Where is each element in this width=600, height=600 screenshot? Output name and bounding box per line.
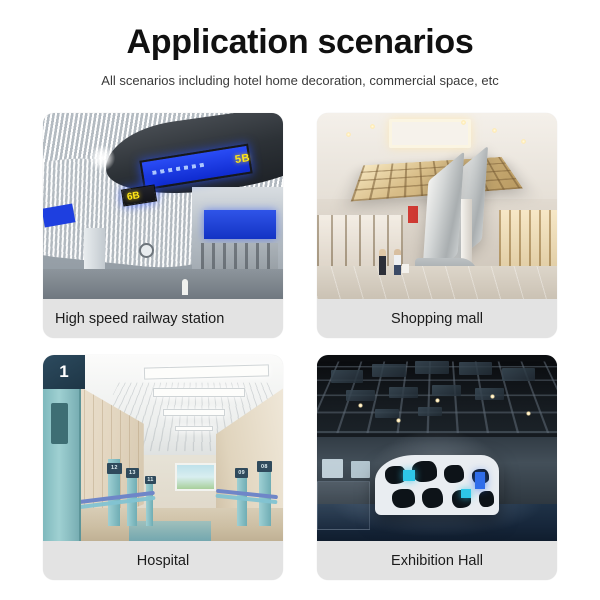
ceiling-tile bbox=[418, 407, 442, 416]
page-subtitle: All scenarios including hotel home decor… bbox=[0, 73, 600, 89]
ward-door bbox=[43, 385, 81, 541]
card-caption-shopping-mall: Shopping mall bbox=[317, 299, 557, 338]
room-sign-11: 11 bbox=[145, 476, 156, 484]
lattice-opening bbox=[392, 489, 414, 508]
page-header: Application scenarios All scenarios incl… bbox=[0, 0, 600, 89]
mall-floor bbox=[317, 266, 557, 299]
display-screen-left bbox=[322, 459, 344, 478]
door-pillar bbox=[127, 470, 137, 526]
display-screen-left-two bbox=[351, 461, 370, 478]
platform-number-5b: 5B bbox=[234, 152, 251, 166]
downlight-icon bbox=[346, 132, 351, 137]
shopper-figure-one bbox=[379, 249, 386, 275]
ceiling-tile bbox=[372, 364, 406, 377]
ceiling-tile bbox=[459, 362, 493, 375]
exhibition-hall-photo bbox=[317, 355, 557, 541]
door-pillar bbox=[146, 482, 153, 527]
ceiling-tile bbox=[502, 368, 536, 381]
lattice-opening bbox=[479, 491, 494, 506]
scenario-card-grid: 5B 6B High speed railway station bbox=[43, 113, 557, 580]
ceiling-tile bbox=[389, 387, 418, 398]
red-banner-sign bbox=[408, 206, 418, 223]
scenario-card-high-speed-railway-station[interactable]: 5B 6B High speed railway station bbox=[43, 113, 283, 338]
platform-number-6b: 6B bbox=[126, 190, 140, 203]
ceiling-tile bbox=[375, 409, 399, 418]
card-caption-railway-station: High speed railway station bbox=[43, 299, 283, 338]
shopping-bag bbox=[402, 264, 409, 273]
ceiling-tile bbox=[432, 385, 461, 396]
wall-clock bbox=[139, 243, 154, 258]
room-sign-09: 09 bbox=[235, 468, 248, 477]
room-sign-13: 13 bbox=[126, 468, 139, 477]
downlight-icon bbox=[521, 139, 526, 144]
room-sign-08: 08 bbox=[257, 461, 273, 472]
glass-partition bbox=[317, 481, 370, 529]
downlight-icon bbox=[370, 124, 375, 129]
spotlight-icon bbox=[435, 398, 440, 403]
linear-ceiling-light bbox=[175, 426, 213, 431]
corridor-end-window bbox=[175, 463, 216, 491]
image-index-badge: 1 bbox=[43, 355, 85, 389]
exhibit-screen-cyan bbox=[403, 470, 415, 481]
card-caption-hospital: Hospital bbox=[43, 541, 283, 580]
room-sign-12: 12 bbox=[107, 463, 123, 474]
card-caption-exhibition-hall: Exhibition Hall bbox=[317, 541, 557, 580]
shopping-mall-photo bbox=[317, 113, 557, 299]
lattice-opening bbox=[412, 461, 437, 481]
application-scenarios-page: Application scenarios All scenarios incl… bbox=[0, 0, 600, 600]
linear-ceiling-light bbox=[163, 409, 225, 416]
scenario-card-shopping-mall[interactable]: Shopping mall bbox=[317, 113, 557, 338]
ceiling-light-glare bbox=[89, 145, 115, 171]
ceiling-tile bbox=[331, 370, 362, 383]
spotlight-icon bbox=[490, 394, 495, 399]
traveller-figure bbox=[182, 279, 188, 295]
right-led-window bbox=[204, 210, 276, 240]
concourse-floor bbox=[43, 269, 283, 299]
ceiling-tile bbox=[346, 390, 375, 401]
page-title: Application scenarios bbox=[0, 22, 600, 62]
hospital-photo: 12 13 11 08 09 1 bbox=[43, 355, 283, 541]
ceiling-cove-light bbox=[389, 119, 471, 149]
exhibit-screen-blue bbox=[475, 472, 485, 489]
railway-station-photo: 5B 6B bbox=[43, 113, 283, 299]
lattice-opening bbox=[444, 465, 464, 483]
linear-ceiling-light bbox=[153, 388, 244, 396]
scenario-card-hospital[interactable]: 12 13 11 08 09 1 Hospital bbox=[43, 355, 283, 580]
exhibit-screen-cyan-two bbox=[461, 489, 471, 498]
scenario-card-exhibition-hall[interactable]: Exhibition Hall bbox=[317, 355, 557, 580]
lattice-opening bbox=[422, 488, 443, 508]
shopper-figure-two bbox=[394, 249, 401, 275]
door-pillar bbox=[237, 474, 247, 526]
ceiling-tile bbox=[415, 361, 449, 374]
spotlight-icon bbox=[526, 411, 531, 416]
